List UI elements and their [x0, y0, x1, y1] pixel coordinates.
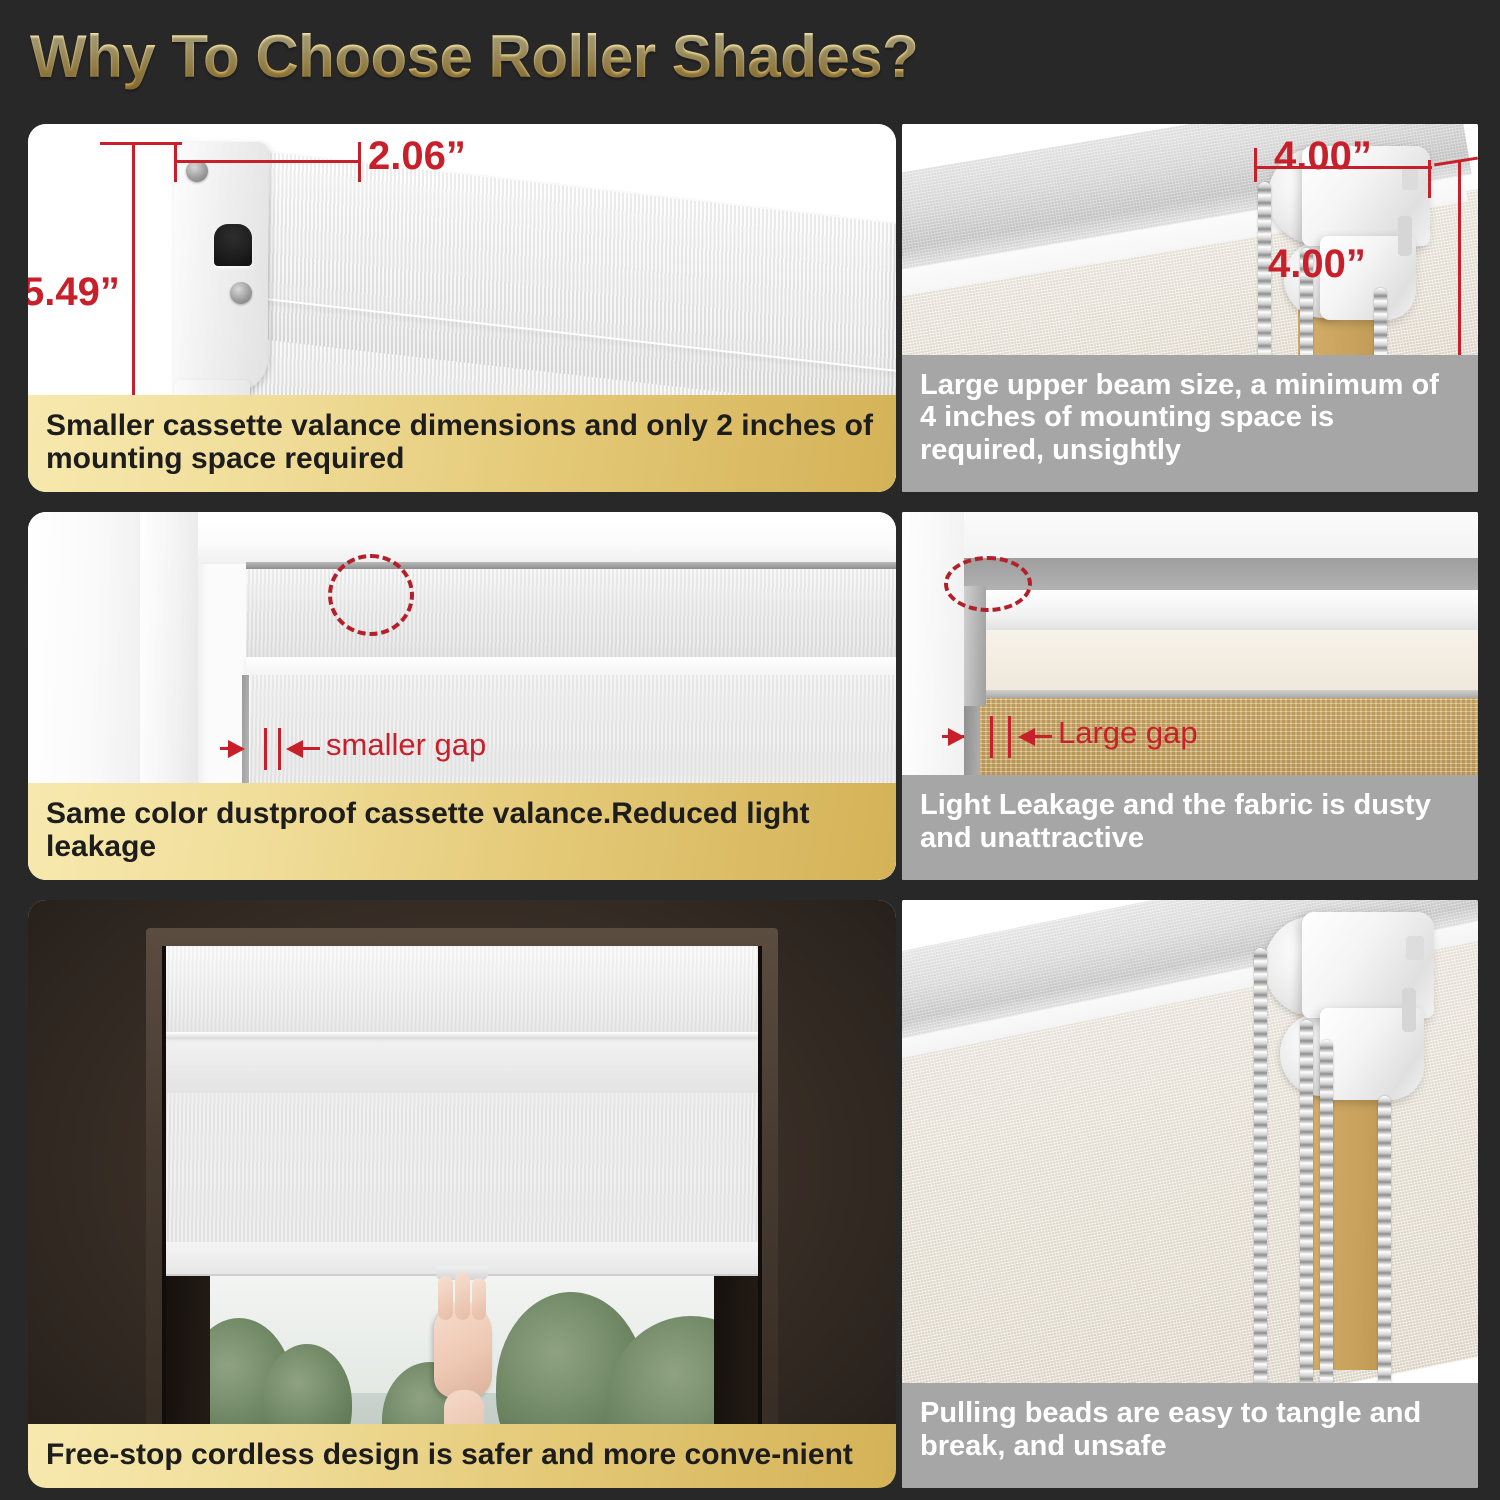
- gap-tick-right: [278, 728, 281, 770]
- caption-pro-smaller-gap: Same color dustproof cassette valance.Re…: [28, 783, 896, 880]
- comparison-grid: 2.06” 5.49” Smaller cassette valance dim…: [0, 112, 1500, 1500]
- panel-image-cordless-window: [28, 900, 896, 1488]
- gap-arrow-right: [286, 740, 303, 758]
- gap-arrow-right-stem: [300, 747, 320, 750]
- caption-con-large-beam: Large upper beam size, a minimum of 4 in…: [902, 355, 1478, 492]
- caption-con-bead-chain: Pulling beads are easy to tangle and bre…: [902, 1383, 1478, 1488]
- page-header: Why To Choose Roller Shades?: [0, 0, 1500, 112]
- caption-pro-cassette-size: Smaller cassette valance dimensions and …: [28, 395, 896, 492]
- dimension-label-beam-height: 4.00”: [1268, 242, 1366, 287]
- gap-tick-left: [990, 716, 993, 758]
- caption-con-large-gap: Light Leakage and the fabric is dusty an…: [902, 775, 1478, 880]
- panel-con-large-gap: Large gap Light Leakage and the fabric i…: [902, 512, 1478, 880]
- panel-pro-smaller-gap: smaller gap Same color dustproof cassett…: [28, 512, 896, 880]
- gap-arrow-left: [948, 728, 965, 746]
- page-title: Why To Choose Roller Shades?: [30, 22, 918, 91]
- panel-pro-cordless: Free-stop cordless design is safer and m…: [28, 900, 896, 1488]
- gap-tick-left: [264, 728, 267, 770]
- gap-arrow-right: [1018, 728, 1035, 746]
- cassette-slot-icon: [214, 224, 252, 266]
- panel-con-bead-chain: Pulling beads are easy to tangle and bre…: [902, 900, 1478, 1488]
- dim-top-tick-right: [1428, 160, 1431, 198]
- highlight-circle-gap-top: [328, 554, 414, 636]
- dim-width-tick-right: [358, 142, 361, 182]
- dimension-label-height: 5.49”: [28, 270, 120, 315]
- annotation-large-gap: Large gap: [1058, 715, 1198, 751]
- dim-height-cap-top: [100, 142, 182, 145]
- gap-arrow-left: [228, 740, 245, 758]
- dimension-label-width: 2.06”: [368, 134, 466, 179]
- annotation-smaller-gap: smaller gap: [326, 727, 486, 763]
- caption-pro-cordless: Free-stop cordless design is safer and m…: [28, 1424, 896, 1488]
- highlight-circle-gap-top: [944, 556, 1032, 612]
- panel-pro-cassette-size: 2.06” 5.49” Smaller cassette valance dim…: [28, 124, 896, 492]
- dim-width-line: [174, 160, 360, 163]
- dim-side-line: [1458, 162, 1461, 358]
- gap-tick-right: [1008, 716, 1011, 758]
- panel-con-large-beam: 4.00” 4.00” Large upper beam size, a min…: [902, 124, 1478, 492]
- dim-top-tick-left: [1254, 148, 1257, 182]
- gap-arrow-right-stem: [1032, 735, 1052, 738]
- bead-chain-1: [1254, 948, 1267, 1448]
- dimension-label-beam-width: 4.00”: [1274, 134, 1372, 179]
